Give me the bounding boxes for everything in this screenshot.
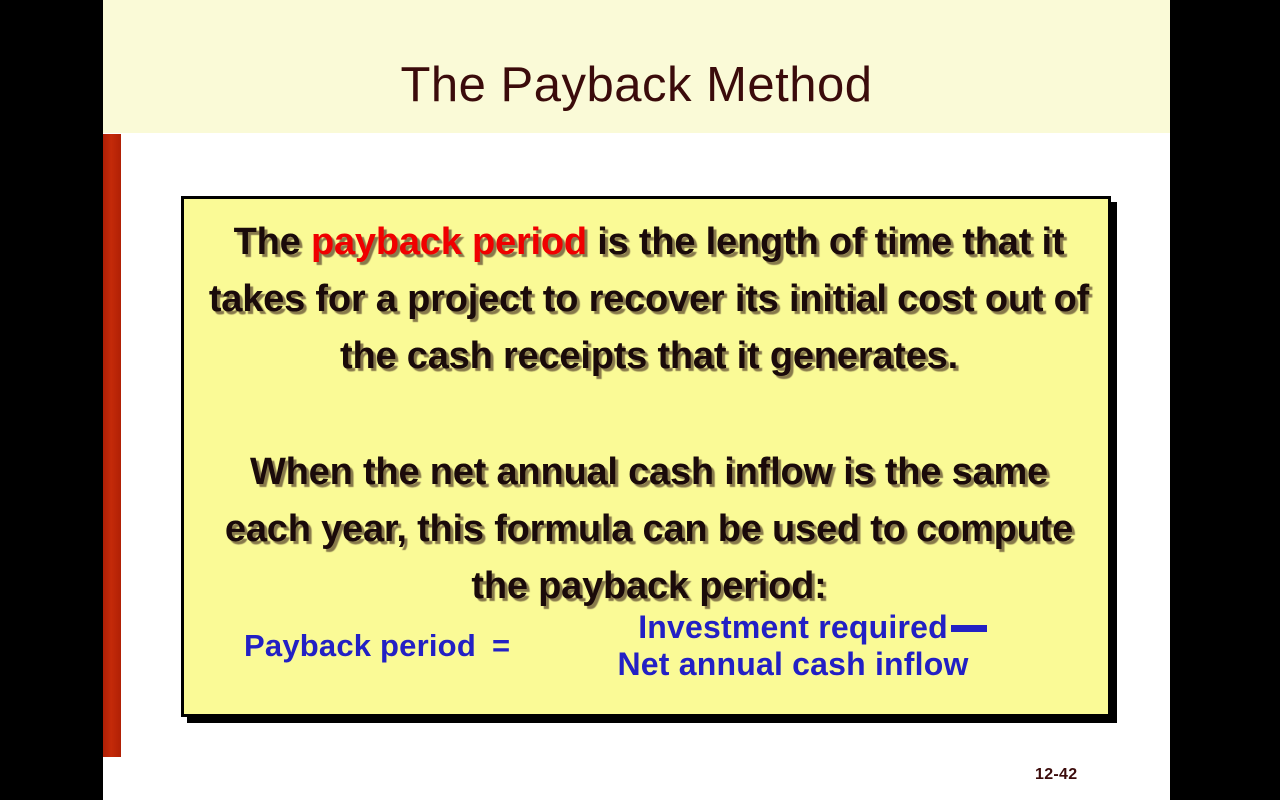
formula-numerator: Investment required (632, 609, 954, 645)
content-box: The payback period is the length of time… (181, 196, 1111, 717)
payback-period-formula: Payback period = Investment required Net… (244, 609, 1054, 683)
definition-text-before: The (234, 221, 311, 263)
left-accent-bar (103, 134, 121, 757)
definition-paragraph: The payback period is the length of time… (198, 214, 1100, 385)
formula-left-side: Payback period (244, 628, 476, 664)
slide-canvas: The Payback Method The payback period is… (103, 0, 1170, 800)
formula-intro-paragraph: When the net annual cash inflow is the s… (208, 444, 1090, 615)
formula-fraction: Investment required Net annual cash infl… (532, 609, 1054, 683)
fraction-bar-tail-icon (951, 625, 987, 632)
formula-denominator: Net annual cash inflow (611, 645, 974, 682)
payback-period-highlight: payback period (311, 221, 587, 263)
title-band: The Payback Method (103, 0, 1170, 133)
slide-frame: The Payback Method The payback period is… (0, 0, 1280, 800)
formula-equals-sign: = (476, 628, 516, 664)
page-title: The Payback Method (103, 61, 1170, 110)
page-number: 12-42 (1035, 766, 1077, 784)
